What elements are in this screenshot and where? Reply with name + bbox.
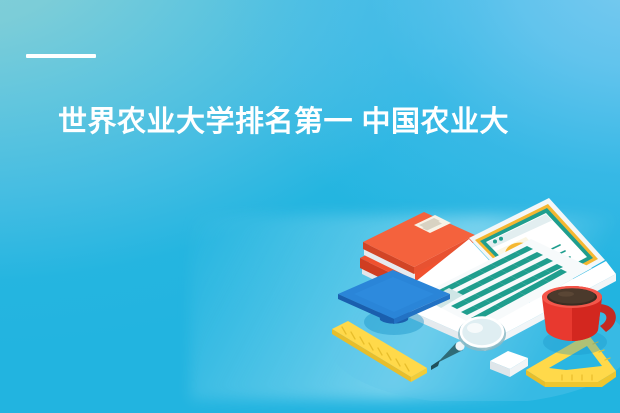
promo-banner: 世界农业大学排名第一 中国农业大 (0, 0, 620, 413)
desk-study-illustration (330, 196, 620, 401)
browser-dot-1 (493, 240, 497, 244)
browser-dot-2 (499, 237, 503, 241)
page-title: 世界农业大学排名第一 中国农业大 (58, 101, 618, 147)
title-accent-rule (26, 54, 96, 58)
